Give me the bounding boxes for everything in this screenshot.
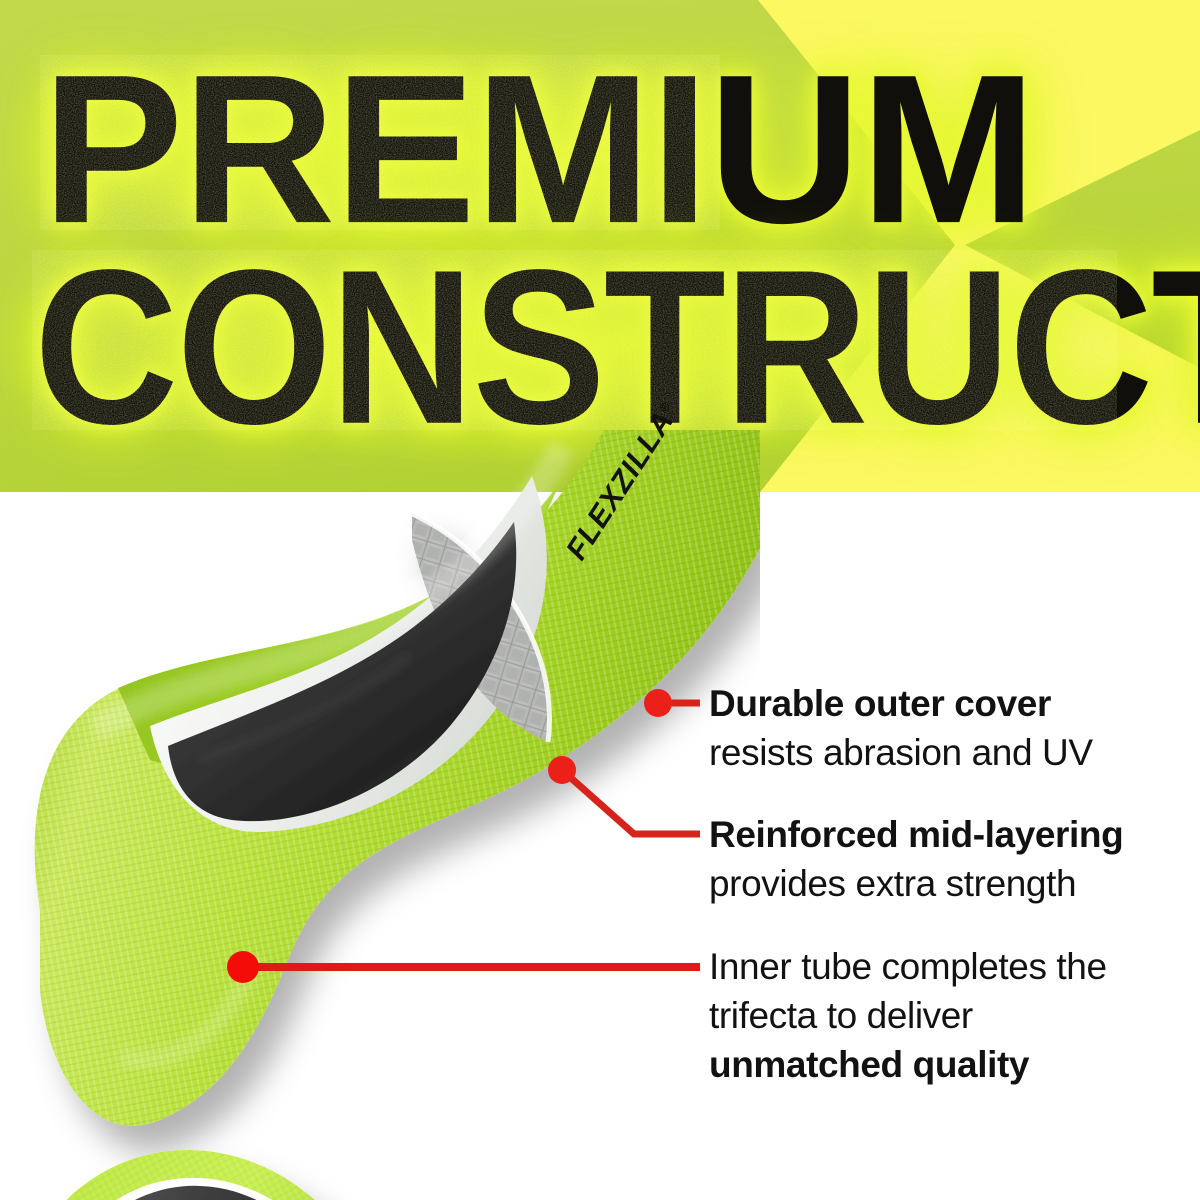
title-glow-bottom	[0, 225, 1160, 465]
callout-inner-tube-line-2: trifecta to deliver	[709, 991, 1107, 1040]
header-background	[0, 0, 1200, 492]
callout-mid-layering: Reinforced mid-layering provides extra s…	[709, 810, 1123, 908]
callout-outer-cover-title: Durable outer cover	[709, 679, 1093, 728]
hose-cutaway-illustration	[0, 430, 760, 1200]
hose-body-group	[0, 430, 760, 1200]
callout-mid-layering-title: Reinforced mid-layering	[709, 810, 1123, 859]
hose-vector	[0, 430, 760, 1200]
callout-outer-cover-body: resists abrasion and UV	[709, 728, 1093, 777]
callout-inner-tube-emphasis: unmatched quality	[709, 1040, 1107, 1089]
callout-inner-tube-line-1: Inner tube completes the	[709, 942, 1107, 991]
callout-outer-cover: Durable outer cover resists abrasion and…	[709, 679, 1093, 777]
callout-inner-tube: Inner tube completes the trifecta to del…	[709, 942, 1107, 1089]
header-banner: PREMIUM CONSTRUCTION	[0, 0, 1200, 492]
callout-mid-layering-body: provides extra strength	[709, 859, 1123, 908]
product-infographic: PREMIUM CONSTRUCTION	[0, 0, 1200, 1200]
